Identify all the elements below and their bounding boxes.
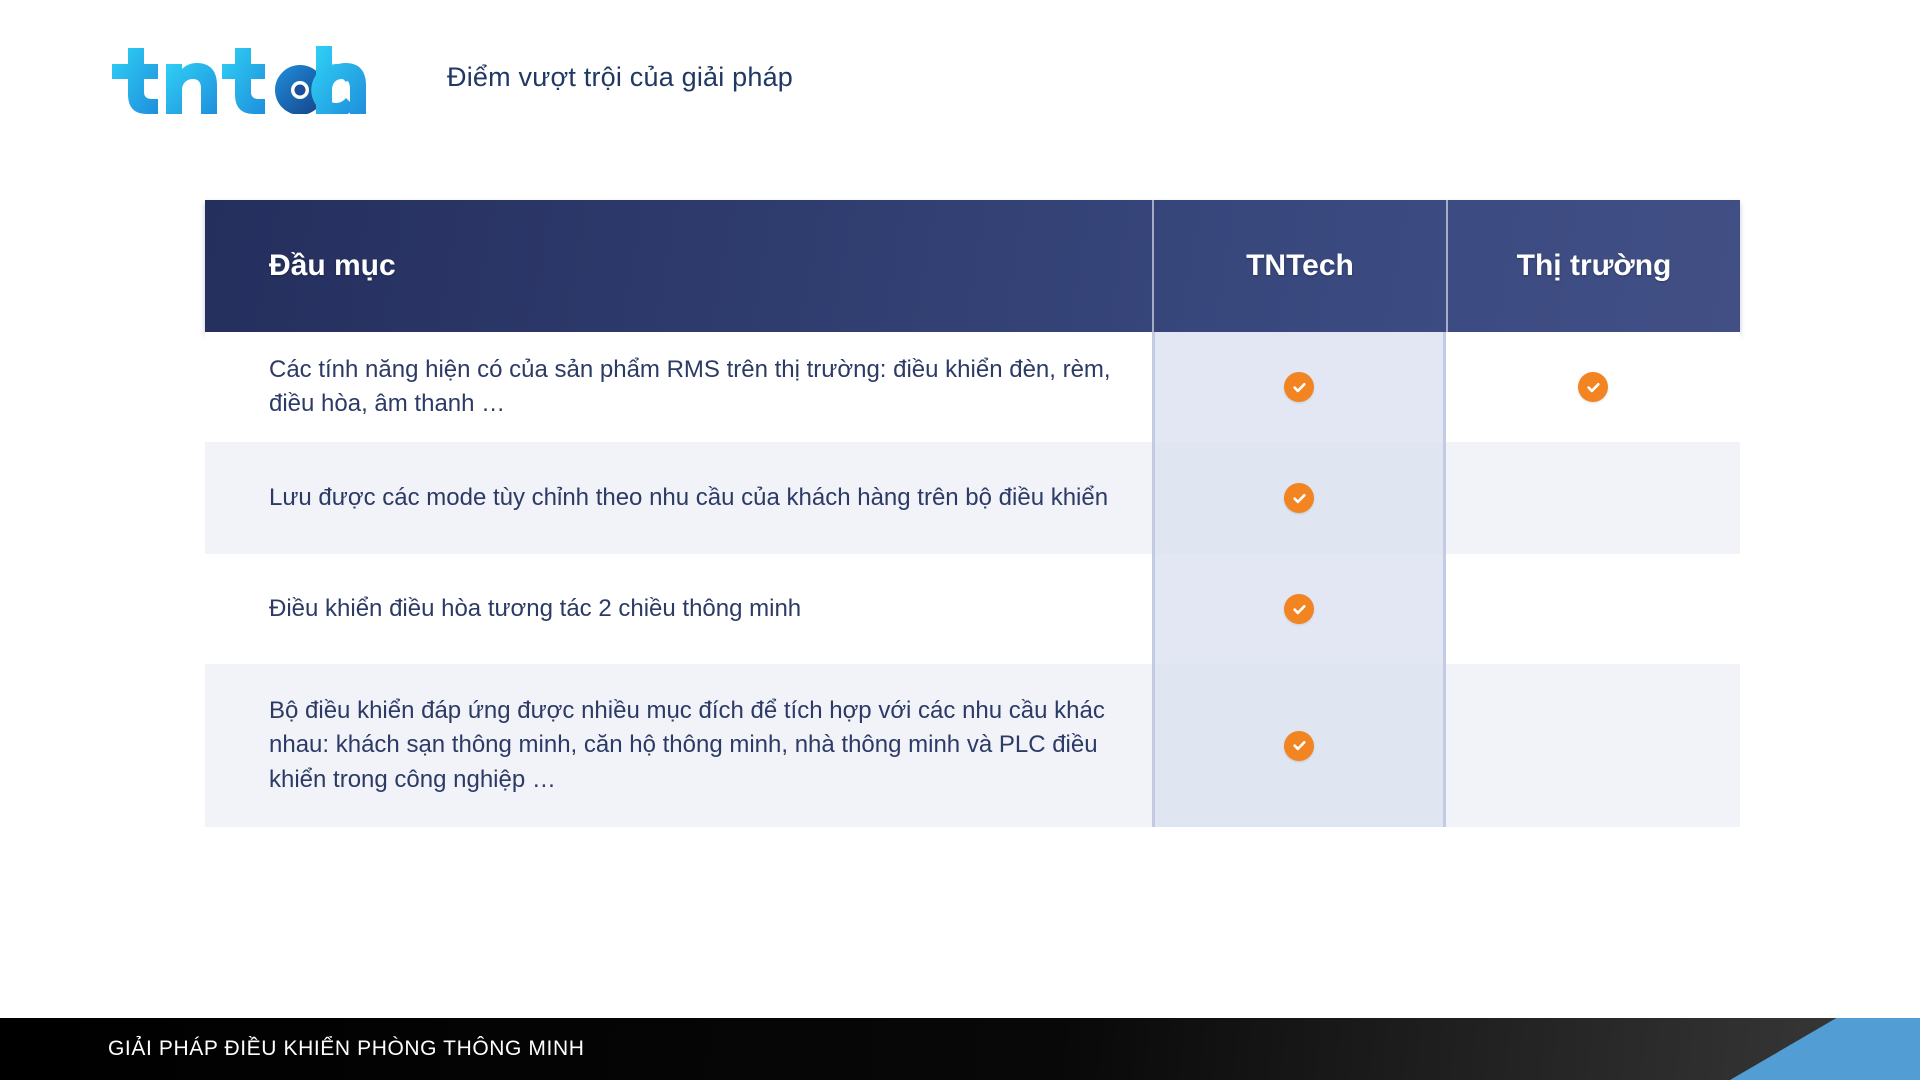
row-item-cell: Bộ điều khiển đáp ứng được nhiều mục đíc… <box>205 664 1152 827</box>
page-title: Điểm vượt trội của giải pháp <box>447 62 793 93</box>
check-circle-icon <box>1284 731 1314 761</box>
row-market-cell <box>1446 664 1740 827</box>
row-item-text: Các tính năng hiện có của sản phẩm RMS t… <box>269 353 1112 421</box>
table-row: Điều khiển điều hòa tương tác 2 chiều th… <box>205 554 1740 664</box>
column-header-item: Đầu mục <box>205 200 1152 332</box>
row-item-cell: Lưu được các mode tùy chỉnh theo nhu cầu… <box>205 442 1152 554</box>
empty-cell-marker <box>1578 731 1608 761</box>
row-tntech-cell <box>1152 554 1446 664</box>
table-row: Lưu được các mode tùy chỉnh theo nhu cầu… <box>205 442 1740 554</box>
table-row: Bộ điều khiển đáp ứng được nhiều mục đíc… <box>205 664 1740 827</box>
slide-root: Điểm vượt trội của giải pháp Đầu mục TNT… <box>0 0 1920 1080</box>
footer-accent-shape <box>1730 1018 1920 1080</box>
check-circle-icon <box>1578 372 1608 402</box>
column-header-tntech: TNTech <box>1152 200 1446 332</box>
row-market-cell <box>1446 442 1740 554</box>
row-market-cell <box>1446 554 1740 664</box>
table-row: Các tính năng hiện có của sản phẩm RMS t… <box>205 332 1740 442</box>
row-item-text: Điều khiển điều hòa tương tác 2 chiều th… <box>269 592 801 626</box>
row-item-text: Bộ điều khiển đáp ứng được nhiều mục đíc… <box>269 694 1112 796</box>
check-circle-icon <box>1284 372 1314 402</box>
row-item-cell: Điều khiển điều hòa tương tác 2 chiều th… <box>205 554 1152 664</box>
row-item-text: Lưu được các mode tùy chỉnh theo nhu cầu… <box>269 481 1108 515</box>
slide-footer: GIẢI PHÁP ĐIỀU KHIỂN PHÒNG THÔNG MINH <box>0 1018 1920 1080</box>
check-circle-icon <box>1284 483 1314 513</box>
row-tntech-cell <box>1152 442 1446 554</box>
comparison-table: Đầu mục TNTech Thị trường Các tính năng … <box>205 200 1740 827</box>
empty-cell-marker <box>1578 594 1608 624</box>
row-market-cell <box>1446 332 1740 442</box>
slide-header: Điểm vượt trội của giải pháp <box>0 0 1920 150</box>
empty-cell-marker <box>1578 483 1608 513</box>
row-tntech-cell <box>1152 332 1446 442</box>
footer-title: GIẢI PHÁP ĐIỀU KHIỂN PHÒNG THÔNG MINH <box>108 1018 585 1080</box>
tntech-logo <box>104 42 374 114</box>
column-header-market: Thị trường <box>1446 200 1740 332</box>
row-tntech-cell <box>1152 664 1446 827</box>
check-circle-icon <box>1284 594 1314 624</box>
table-header-row: Đầu mục TNTech Thị trường <box>205 200 1740 332</box>
row-item-cell: Các tính năng hiện có của sản phẩm RMS t… <box>205 332 1152 442</box>
